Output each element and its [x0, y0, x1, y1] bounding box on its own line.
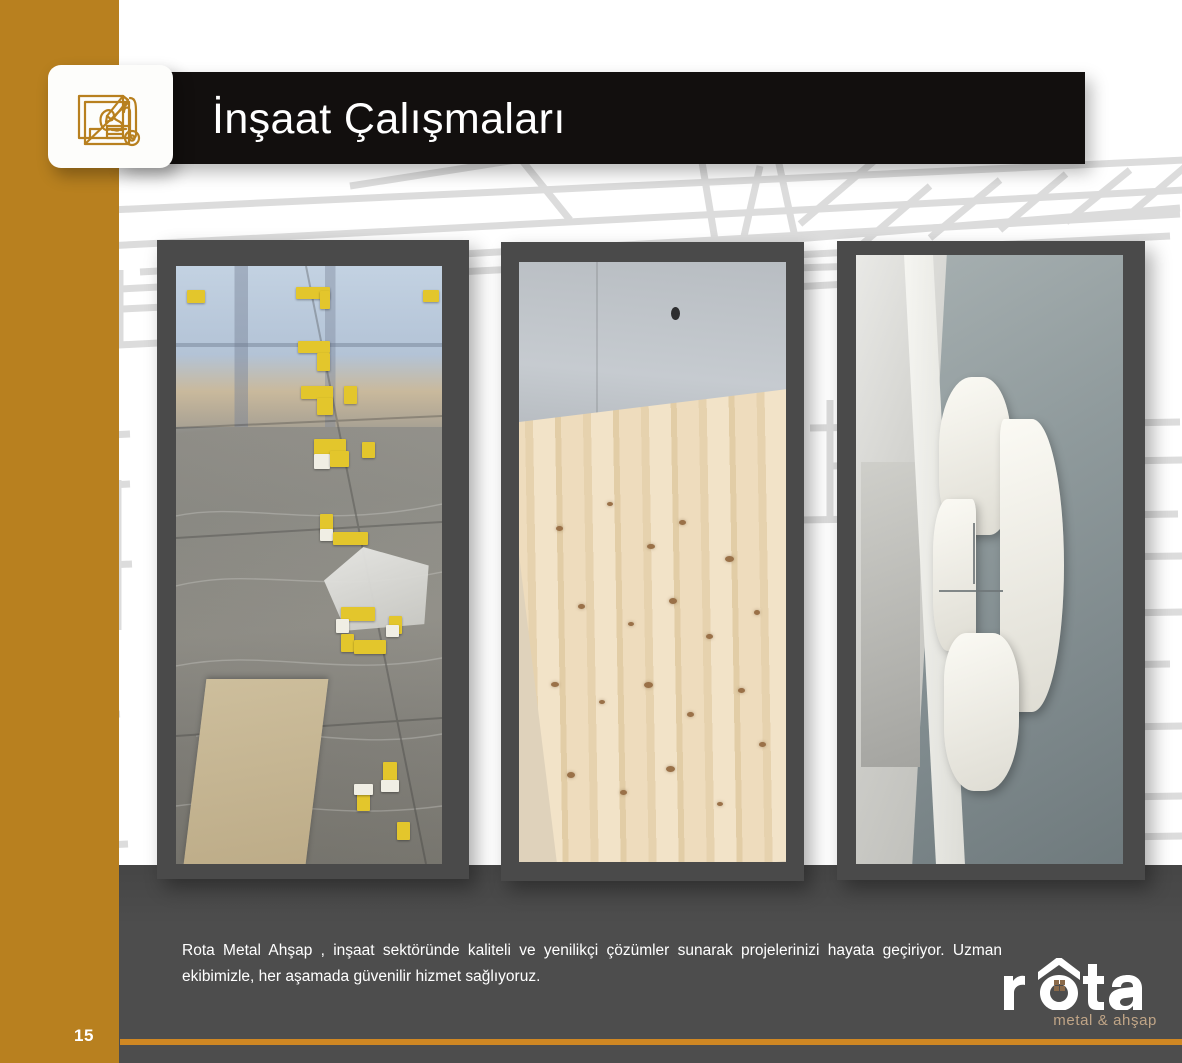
logo-tagline: metal & ahşap — [1007, 1012, 1157, 1029]
photo-frame-2[interactable] — [501, 242, 804, 881]
slide-root: İnşaat Çalışmaları — [0, 0, 1182, 1063]
blueprint-plan-icon — [74, 82, 148, 152]
rota-wordmark-svg — [1002, 958, 1154, 1010]
photo-frame-1[interactable] — [157, 240, 469, 879]
caption-text: Rota Metal Ahşap , inşaat sektöründe kal… — [182, 938, 1002, 990]
photo-plaster-elements — [856, 255, 1123, 864]
photo-wood-flooring — [519, 262, 786, 862]
photo-frame-3[interactable] — [837, 241, 1145, 880]
header-icon-card — [48, 65, 173, 168]
photo-tile-levelling — [176, 266, 442, 864]
logo-wordmark — [1002, 958, 1154, 1010]
page-title: İnşaat Çalışmaları — [212, 88, 1052, 150]
footer-orange-rule — [120, 1039, 1182, 1045]
brand-logo: metal & ahşap — [1002, 958, 1162, 1036]
page-number: 15 — [74, 1026, 94, 1046]
